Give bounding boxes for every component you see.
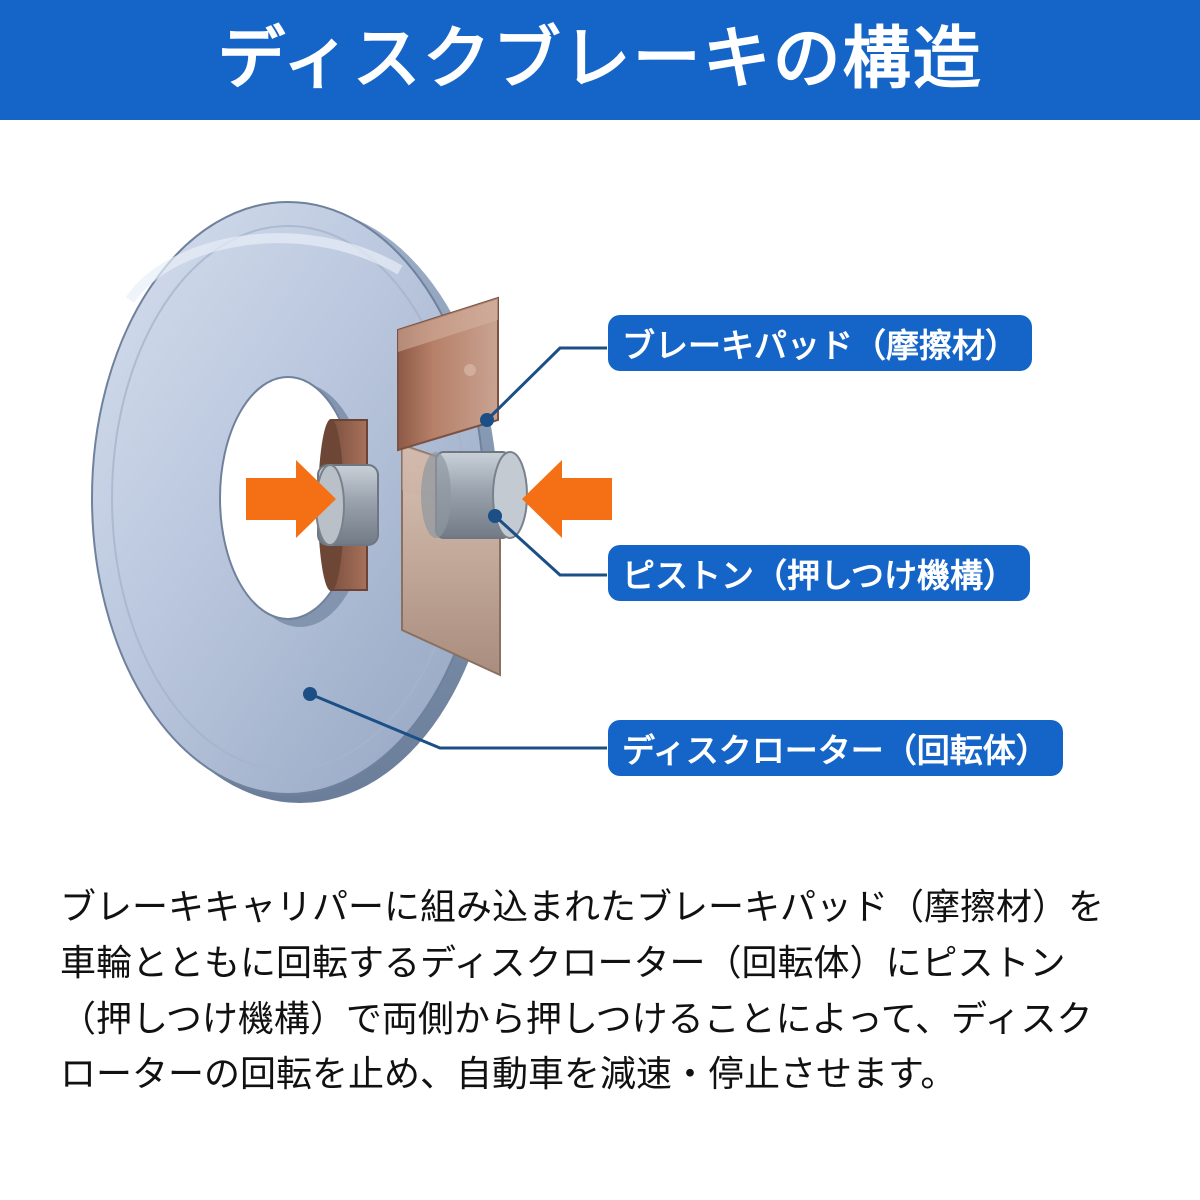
brake-diagram: ブレーキパッド（摩擦材） ピストン（押しつけ機構） ディスクローター（回転体） bbox=[0, 120, 1200, 860]
description-line-2: 車輪とともに回転するディスクローター（回転体）にピストン bbox=[60, 936, 1150, 992]
callout-disc-rotor: ディスクローター（回転体） bbox=[608, 720, 1063, 776]
header-banner: ディスクブレーキの構造 bbox=[0, 0, 1200, 120]
description-line-4: ローターの回転を止め、自動車を減速・停止させます。 bbox=[60, 1047, 1150, 1103]
callout-brake-pad: ブレーキパッド（摩擦材） bbox=[608, 315, 1032, 371]
page-root: ディスクブレーキの構造 bbox=[0, 0, 1200, 1200]
callout-brake-pad-label: ブレーキパッド（摩擦材） bbox=[622, 319, 1018, 367]
page-title: ディスクブレーキの構造 bbox=[217, 26, 982, 94]
description-line-1: ブレーキキャリパーに組み込まれたブレーキパッド（摩擦材）を bbox=[60, 880, 1150, 936]
description-text: ブレーキキャリパーに組み込まれたブレーキパッド（摩擦材）を 車輪とともに回転する… bbox=[60, 880, 1150, 1103]
callout-disc-rotor-label: ディスクローター（回転体） bbox=[622, 724, 1049, 772]
description-line-3: （押しつけ機構）で両側から押しつけることによって、ディスク bbox=[60, 992, 1150, 1048]
callout-piston-label: ピストン（押しつけ機構） bbox=[622, 549, 1016, 597]
callout-piston: ピストン（押しつけ機構） bbox=[608, 545, 1030, 601]
arrow-right-icon bbox=[522, 460, 612, 538]
outer-piston-graphic bbox=[421, 452, 527, 538]
